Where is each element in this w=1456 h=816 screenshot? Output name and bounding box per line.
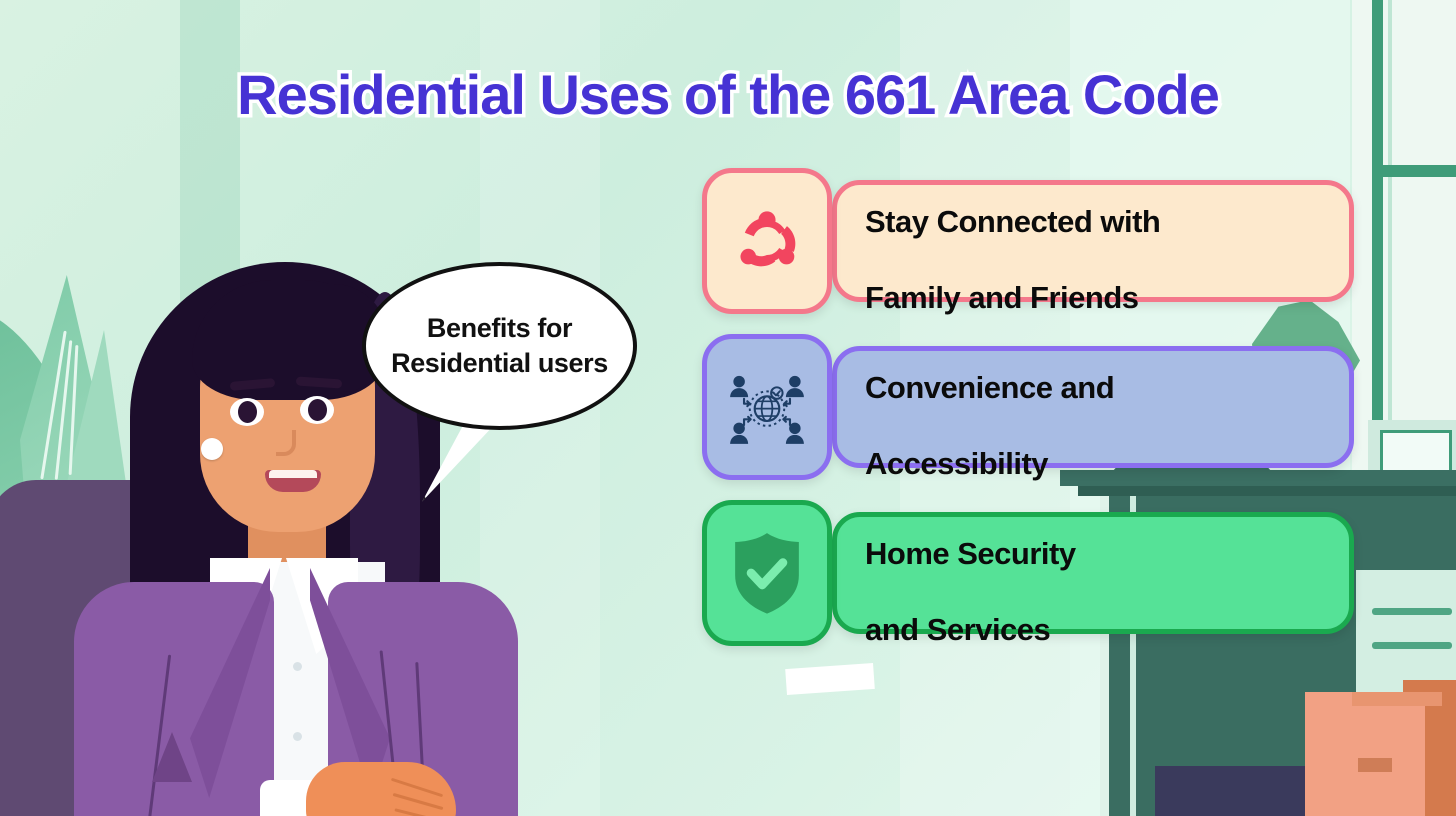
benefit-card-line-1: Convenience and — [865, 370, 1114, 405]
global-network-people-icon — [702, 334, 832, 480]
speech-bubble: Benefits for Residential users — [362, 262, 637, 430]
infographic-canvas: Benefits for Residential users Residenti… — [0, 0, 1456, 816]
page-title: Residential Uses of the 661 Area Code — [0, 62, 1456, 127]
benefit-card-title: Stay Connected with Family and Friends — [865, 165, 1160, 316]
benefit-card-line-1: Home Security — [865, 536, 1076, 571]
benefit-card-stay-connected[interactable]: Stay Connected with Family and Friends — [702, 168, 1352, 314]
hand — [306, 762, 456, 816]
teeth — [269, 470, 317, 478]
benefit-card-bar[interactable]: Stay Connected with Family and Friends — [832, 180, 1354, 302]
community-people-circle-icon — [702, 168, 832, 314]
window-mullion-horizontal — [1383, 165, 1456, 177]
benefit-card-line-1: Stay Connected with — [865, 204, 1160, 239]
shirt-button-1 — [293, 662, 302, 671]
benefit-card-line-2: and Services — [865, 612, 1050, 647]
desk-note-line-1 — [1372, 608, 1452, 615]
benefit-card-line-2: Accessibility — [865, 446, 1048, 481]
shirt-button-2 — [293, 732, 302, 741]
floor-shadow-block — [1155, 766, 1315, 816]
pupil-right — [308, 399, 327, 421]
shield-check-icon — [702, 500, 832, 646]
benefit-card-bar[interactable]: Home Security and Services — [832, 512, 1354, 634]
earring — [201, 438, 223, 460]
cardboard-box-flap — [1352, 692, 1442, 706]
benefit-card-line-2: Family and Friends — [865, 280, 1139, 315]
benefit-card-bar[interactable]: Convenience and Accessibility — [832, 346, 1354, 468]
benefit-card-convenience[interactable]: Convenience and Accessibility — [702, 334, 1352, 480]
benefit-card-home-security[interactable]: Home Security and Services — [702, 500, 1352, 646]
cardboard-box-left — [1305, 692, 1425, 816]
speech-bubble-text: Benefits for Residential users — [366, 311, 633, 381]
benefit-cards-list: Stay Connected with Family and Friends — [702, 168, 1352, 666]
cardboard-box-tape — [1358, 758, 1392, 772]
desk-note-line-2 — [1372, 642, 1452, 649]
pupil-left — [238, 401, 257, 423]
benefit-card-title: Home Security and Services — [865, 497, 1076, 648]
benefit-card-title: Convenience and Accessibility — [865, 331, 1114, 482]
